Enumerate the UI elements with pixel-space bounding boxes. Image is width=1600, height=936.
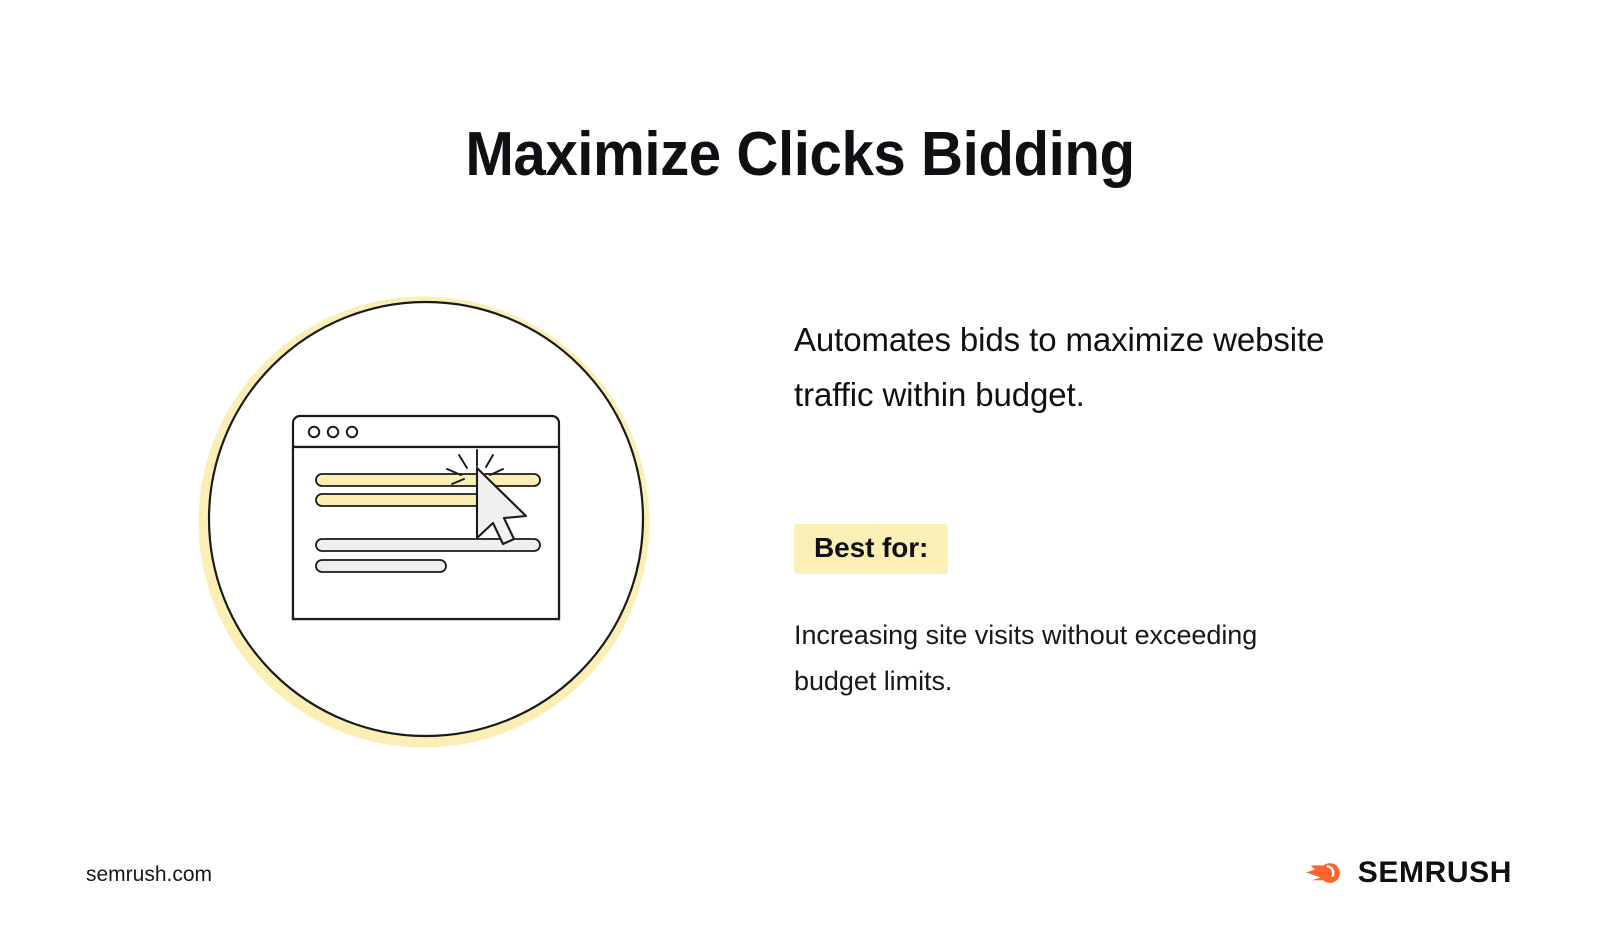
window-dot-1-icon xyxy=(309,427,319,437)
best-for-section: Best for: Increasing site visits without… xyxy=(794,524,1414,704)
browser-window-click-illustration xyxy=(196,292,656,752)
window-dot-3-icon xyxy=(347,427,357,437)
slide-canvas: Maximize Clicks Bidding xyxy=(0,0,1600,936)
highlighted-bar-2 xyxy=(316,494,481,506)
illustration-container xyxy=(196,292,656,752)
best-for-description: Increasing site visits without exceeding… xyxy=(794,612,1314,704)
browser-viewport xyxy=(293,447,559,619)
semrush-wordmark: SEMRUSH xyxy=(1358,857,1512,889)
description-text: Automates bids to maximize website traff… xyxy=(794,312,1364,422)
semrush-mark-icon xyxy=(1305,855,1345,891)
semrush-logo: SEMRUSH xyxy=(1305,855,1512,891)
page-title: Maximize Clicks Bidding xyxy=(48,119,1552,191)
window-dot-2-icon xyxy=(328,427,338,437)
neutral-bar-2 xyxy=(316,560,446,572)
best-for-label: Best for: xyxy=(794,524,948,574)
footer-domain: semrush.com xyxy=(86,862,212,888)
content-column: Automates bids to maximize website traff… xyxy=(794,312,1414,704)
highlighted-bar-1 xyxy=(316,474,540,486)
